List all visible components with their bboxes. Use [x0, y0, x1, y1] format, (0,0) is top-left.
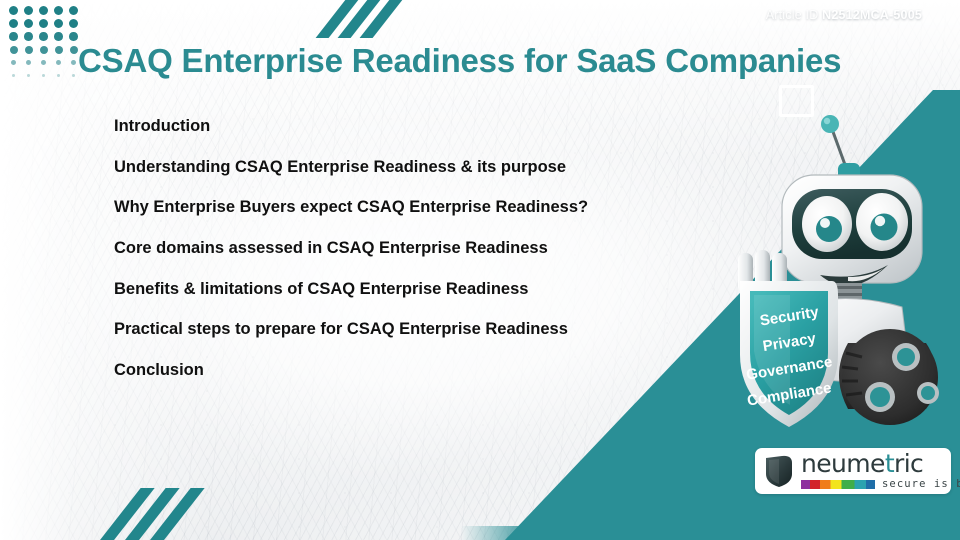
article-id-label: Article ID: [766, 8, 819, 22]
logo-word-last: ric: [894, 449, 923, 478]
dot-matrix-dot: [39, 32, 48, 41]
dot-matrix-dot: [70, 46, 78, 54]
dot-matrix-dot: [25, 46, 33, 54]
dot-matrix-dot: [69, 32, 78, 41]
dot-matrix-dot: [55, 46, 63, 54]
dot-matrix-dot: [69, 6, 78, 15]
dot-matrix-dot: [26, 60, 32, 66]
dot-matrix-dot: [40, 46, 48, 54]
dot-matrix-row: [6, 4, 81, 17]
diagonal-slashes-bottom: [118, 488, 182, 540]
diagonal-slashes-top: [332, 0, 389, 38]
dot-matrix-dot: [9, 6, 18, 15]
dot-matrix-row: [6, 17, 81, 30]
agenda-item: Core domains assessed in CSAQ Enterprise…: [114, 240, 714, 257]
dot-matrix-dot: [10, 46, 18, 54]
dot-matrix-dot: [24, 19, 33, 28]
dot-matrix-dot: [11, 60, 17, 66]
agenda-item: Understanding CSAQ Enterprise Readiness …: [114, 159, 714, 176]
logo-rainbow-bar: [801, 480, 875, 489]
dot-matrix-dot: [39, 19, 48, 28]
dot-matrix-dot: [27, 74, 31, 78]
dot-matrix-dot: [54, 6, 63, 15]
page-title: CSAQ Enterprise Readiness for SaaS Compa…: [78, 42, 841, 80]
dot-matrix-dot: [54, 32, 63, 41]
dot-matrix-dot: [69, 19, 78, 28]
dot-matrix-dot: [71, 60, 77, 66]
dot-matrix-dot: [42, 74, 46, 78]
article-id: Article ID N2512MCA-5005: [766, 8, 922, 22]
agenda-list: IntroductionUnderstanding CSAQ Enterpris…: [114, 118, 714, 403]
dot-matrix-dot: [12, 74, 16, 78]
dot-matrix-row: [6, 30, 81, 43]
robot-mascot: Security Privacy Governance Compliance: [720, 105, 960, 435]
article-id-value: N2512MCA-5005: [822, 8, 922, 22]
dot-matrix-dot: [41, 60, 47, 66]
logo-shield-icon: [764, 454, 794, 488]
agenda-item: Why Enterprise Buyers expect CSAQ Enterp…: [114, 199, 714, 216]
dot-matrix-dot: [39, 6, 48, 15]
dot-matrix-dot: [72, 74, 76, 78]
logo-wordmark: neumetric: [801, 452, 960, 476]
agenda-item: Introduction: [114, 118, 714, 135]
dot-matrix-dot: [24, 32, 33, 41]
logo-tagline: secure is better: [882, 478, 960, 490]
dot-matrix-dot: [9, 19, 18, 28]
agenda-item: Practical steps to prepare for CSAQ Ente…: [114, 321, 714, 338]
agenda-item: Benefits & limitations of CSAQ Enterpris…: [114, 281, 714, 298]
dot-matrix-dot: [54, 19, 63, 28]
dot-matrix-dot: [9, 32, 18, 41]
robot-antenna-ball: [821, 115, 839, 133]
logo-word-first: neume: [801, 449, 885, 478]
dot-matrix-row: [6, 69, 81, 82]
dot-matrix-decoration: [6, 4, 81, 82]
logo-word-accent: t: [885, 449, 894, 478]
logo-bottom-row: secure is better: [801, 478, 960, 490]
dot-matrix-dot: [24, 6, 33, 15]
robot-wheel: [839, 329, 939, 425]
dot-matrix-dot: [57, 74, 61, 78]
dot-matrix-dot: [56, 60, 62, 66]
neumetric-logo: neumetric secure is better: [755, 448, 951, 494]
dot-matrix-row: [6, 43, 81, 56]
dot-matrix-row: [6, 56, 81, 69]
presentation-slide: Article ID N2512MCA-5005 CSAQ Enterprise…: [0, 0, 960, 540]
logo-text-block: neumetric secure is better: [801, 452, 960, 491]
agenda-item: Conclusion: [114, 362, 714, 379]
